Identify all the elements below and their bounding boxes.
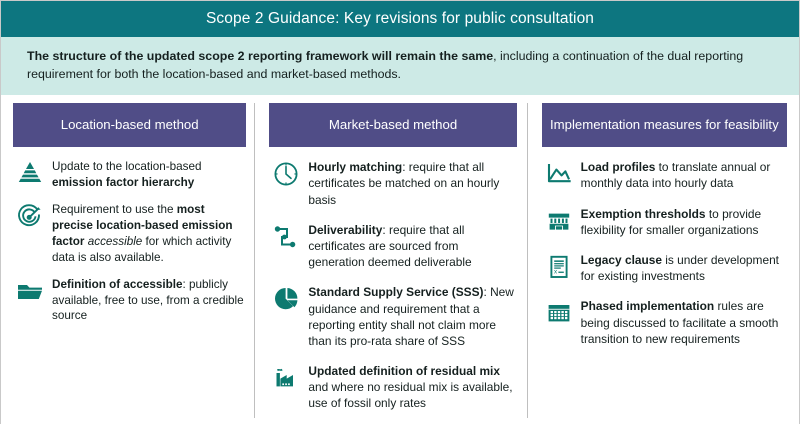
intro-text: The structure of the updated scope 2 rep…	[27, 48, 773, 83]
bullet-list-implementation-measures: Load profiles to translate annual or mon…	[542, 147, 787, 361]
bullet-text: Legacy clause is under development for e…	[576, 252, 787, 284]
target-icon	[13, 202, 47, 232]
load-profile-chart-icon	[542, 159, 576, 189]
intro-bold-lead: The structure of the updated scope 2 rep…	[27, 49, 493, 63]
bullet-text: Hourly matching: require that all certif…	[303, 159, 516, 208]
svg-text:x: x	[554, 269, 558, 276]
bullet-text: Update to the location-based emission fa…	[47, 159, 246, 191]
bullet-text: Updated definition of residual mix and w…	[303, 363, 516, 412]
network-nodes-icon	[269, 222, 303, 252]
bullet-seg-bold: Definition of accessible	[52, 278, 183, 291]
bullet-list-location-based: Update to the location-based emission fa…	[13, 147, 246, 335]
storefront-icon	[542, 206, 576, 236]
bullet-text: Load profiles to translate annual or mon…	[576, 159, 787, 191]
pie-chart-icon	[269, 284, 303, 314]
column-location-based: Location-based method Updat	[1, 95, 254, 424]
bullet-text: Exemption thresholds to provide flexibil…	[576, 206, 787, 238]
bullet-seg-bold: Updated definition of residual mix	[308, 364, 500, 378]
column-header-location-based: Location-based method	[13, 103, 246, 147]
bullet-item: Load profiles to translate annual or mon…	[542, 159, 787, 191]
bullet-seg-bold: Load profiles	[581, 160, 656, 174]
bullet-seg-bold: Deliverability	[308, 223, 382, 237]
slide-title-bar: Scope 2 Guidance: Key revisions for publ…	[1, 1, 799, 37]
bullet-item: Phased implementation rules are being di…	[542, 298, 787, 347]
bullet-item: Definition of accessible: publicly avail…	[13, 277, 246, 325]
column-market-based: Market-based method Hourly matc	[255, 95, 526, 424]
intro-banner: The structure of the updated scope 2 rep…	[1, 37, 799, 95]
document-icon: x	[542, 252, 576, 282]
bullet-text: Definition of accessible: publicly avail…	[47, 277, 246, 325]
folder-icon	[13, 277, 47, 307]
bullet-text: Standard Supply Service (SSS): New guida…	[303, 284, 516, 349]
column-header-market-based: Market-based method	[269, 103, 516, 147]
bullet-item: Updated definition of residual mix and w…	[269, 363, 516, 412]
bullet-list-market-based: Hourly matching: require that all certif…	[269, 147, 516, 424]
slide-root: Scope 2 Guidance: Key revisions for publ…	[0, 0, 800, 424]
bullet-seg-bold: Phased implementation	[581, 299, 714, 313]
bullet-seg-bold: Standard Supply Service (SSS)	[308, 285, 483, 299]
bullet-text: Deliverability: require that all certifi…	[303, 222, 516, 271]
column-implementation-measures: Implementation measures for feasibility …	[528, 95, 799, 424]
columns-container: Location-based method Updat	[1, 95, 799, 424]
bullet-seg-normal: and where no residual mix is available, …	[308, 380, 512, 410]
pyramid-icon	[13, 159, 47, 189]
factory-icon	[269, 363, 303, 393]
calendar-icon	[542, 298, 576, 328]
bullet-seg-bold: emission factor hierarchy	[52, 176, 194, 189]
bullet-item: Hourly matching: require that all certif…	[269, 159, 516, 208]
bullet-item: Standard Supply Service (SSS): New guida…	[269, 284, 516, 349]
bullet-seg-bold: Exemption thresholds	[581, 207, 706, 221]
bullet-seg-bold: Legacy clause	[581, 253, 662, 267]
bullet-item: Deliverability: require that all certifi…	[269, 222, 516, 271]
bullet-seg-normal: Requirement to use the	[52, 203, 177, 216]
bullet-item: Update to the location-based emission fa…	[13, 159, 246, 191]
bullet-seg-italic: accessible	[88, 235, 143, 248]
page-title: Scope 2 Guidance: Key revisions for publ…	[206, 10, 594, 28]
bullet-seg-normal: Update to the location-based	[52, 160, 201, 173]
bullet-item: Requirement to use the most precise loca…	[13, 202, 246, 266]
bullet-item: x Legacy clause is under development for…	[542, 252, 787, 284]
bullet-text: Requirement to use the most precise loca…	[47, 202, 246, 266]
clock-icon	[269, 159, 303, 189]
column-header-implementation-measures: Implementation measures for feasibility	[542, 103, 787, 147]
bullet-text: Phased implementation rules are being di…	[576, 298, 787, 347]
bullet-seg-bold: Hourly matching	[308, 160, 402, 174]
bullet-item: Exemption thresholds to provide flexibil…	[542, 206, 787, 238]
